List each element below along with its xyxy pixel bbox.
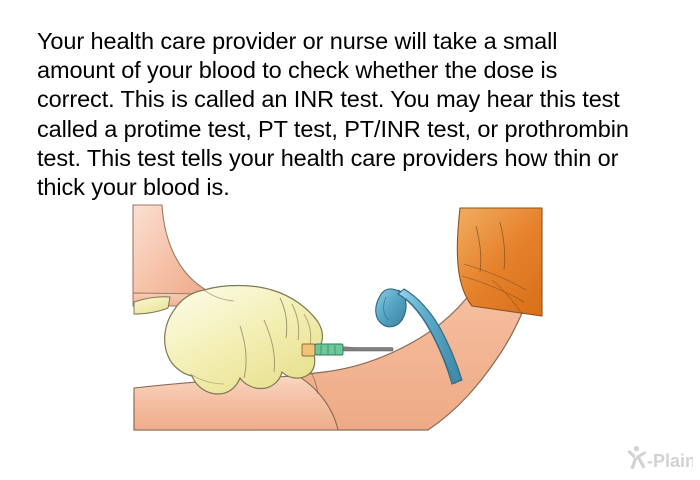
body-paragraph: Your health care provider or nurse will … — [37, 27, 637, 202]
x-plain-figure-icon — [627, 446, 647, 469]
provider-forearm — [133, 205, 208, 306]
needle-syringe — [302, 344, 393, 356]
latex-glove — [134, 286, 323, 395]
document-page: Your health care provider or nurse will … — [0, 0, 700, 480]
shirt-sleeve — [457, 208, 542, 316]
x-plain-logo: -Plain — [623, 445, 693, 473]
blood-draw-illustration — [128, 198, 548, 433]
logo-text: -Plain — [647, 451, 693, 471]
